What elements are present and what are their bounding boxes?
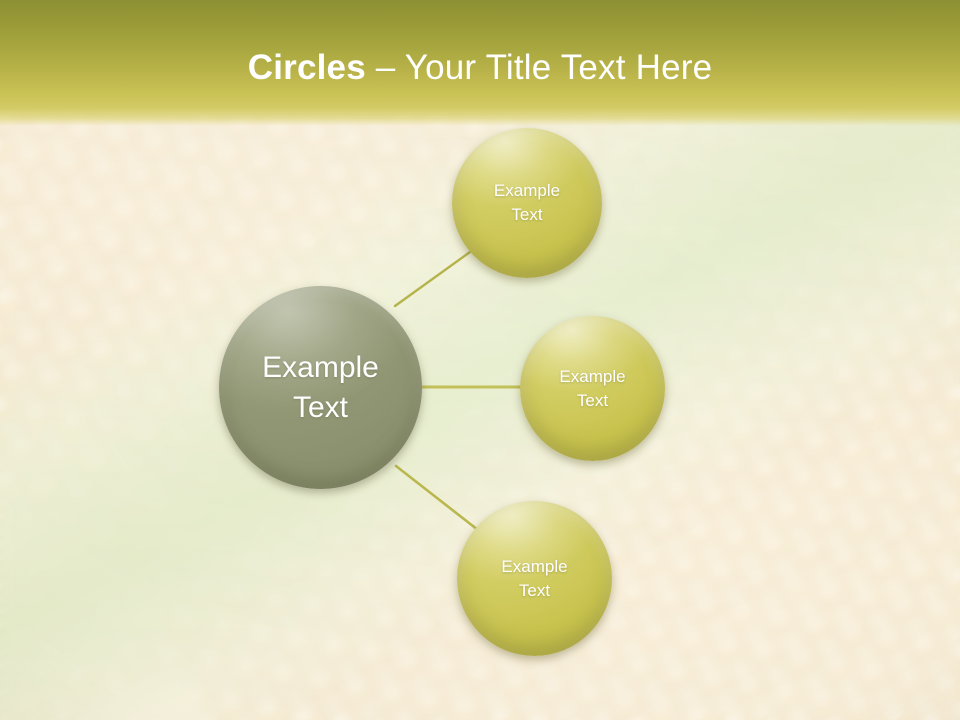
center-node-label-line2: Text bbox=[293, 391, 348, 424]
satellite-node-middle[interactable]: ExampleText bbox=[520, 316, 665, 461]
satellite-node-top-label-line2: Text bbox=[511, 205, 542, 224]
satellite-node-middle-label-line1: Example bbox=[559, 367, 625, 386]
satellite-node-top-label: ExampleText bbox=[484, 179, 570, 227]
center-node[interactable]: ExampleText bbox=[219, 286, 422, 489]
satellite-node-top-label-line1: Example bbox=[494, 181, 560, 200]
center-node-label: ExampleText bbox=[252, 348, 389, 428]
slide-canvas: Circles – Your Title Text Here ExampleTe… bbox=[0, 0, 960, 720]
satellite-node-middle-label: ExampleText bbox=[549, 365, 635, 413]
satellite-node-top[interactable]: ExampleText bbox=[452, 128, 602, 278]
satellite-node-bottom[interactable]: ExampleText bbox=[457, 501, 612, 656]
connector-center-to-top bbox=[395, 252, 470, 306]
satellite-node-bottom-label: ExampleText bbox=[491, 555, 577, 603]
satellite-node-bottom-label-line1: Example bbox=[501, 557, 567, 576]
satellite-node-bottom-label-line2: Text bbox=[519, 581, 550, 600]
connector-center-to-bottom bbox=[396, 466, 478, 530]
satellite-node-middle-label-line2: Text bbox=[577, 391, 608, 410]
center-node-label-line1: Example bbox=[262, 351, 379, 384]
